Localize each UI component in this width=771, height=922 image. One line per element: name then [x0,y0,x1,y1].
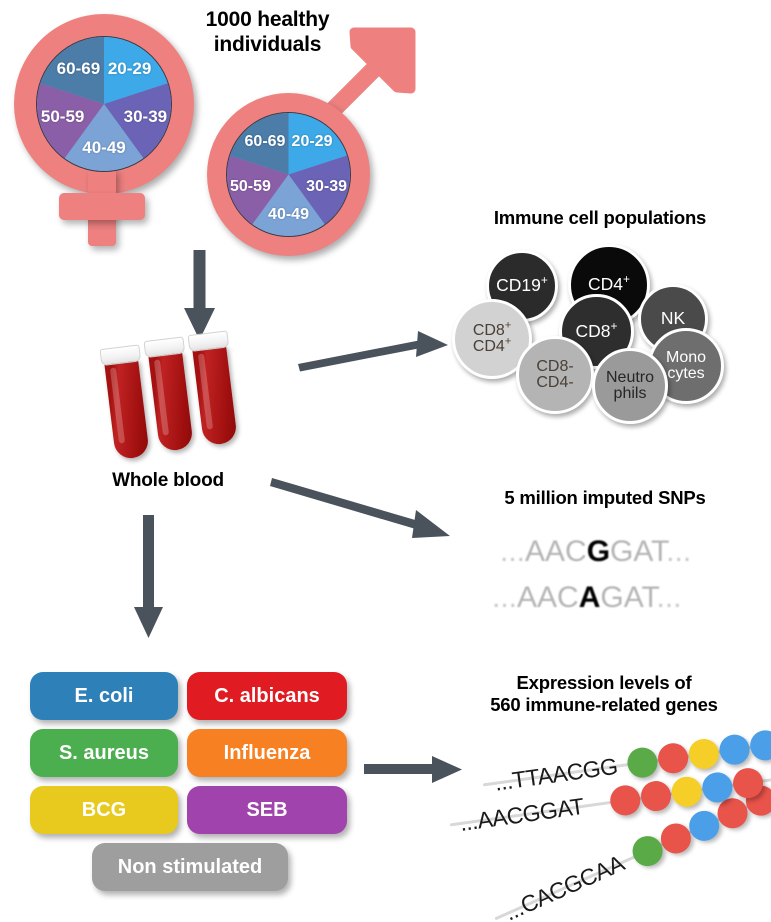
snp-base-sequence: ... [500,535,525,568]
immune-cell-label: NK [661,310,685,328]
dna-bead [656,741,690,775]
blood-tube [102,345,149,460]
immune-cell-neutrophils: Neutrophils [592,348,668,424]
snp-base-sequence: GAT [600,581,656,614]
snp-base-sequence: ... [492,581,517,614]
stimulation-influenza[interactable]: Influenza [187,729,347,777]
dna-bead [608,783,642,817]
dna-sequence-text: ...AACGGAT [458,793,585,837]
immune-cell-label: phils [606,386,654,402]
snp-base-sequence: AAC [525,535,587,568]
snp-base-sequence: GAT [610,535,666,568]
immune-cell-label: CD8+ [576,323,618,341]
immune-cell-label: CD8- [536,359,573,375]
stimulation-non-stimulated[interactable]: Non stimulated [92,843,288,891]
whole-blood-label: Whole blood [78,470,258,492]
dna-strands: ...TTAACGG...AACGGAT...CACGCAA [455,740,771,920]
pie-label-20-29: 20-29 [292,133,333,151]
pie-label-50-59: 50-59 [41,107,84,127]
immune-cell-cluster: CD19+CD4+NKCD8+CD4+CD8+MonocytesCD8-CD4-… [464,244,764,419]
pie-label-30-39: 30-39 [124,107,167,127]
snp-highlighted-base: G [587,535,610,568]
stimulation-e-coli[interactable]: E. coli [30,672,178,720]
stimulation-label: Non stimulated [118,856,262,879]
stimulation-conditions: E. coliC. albicansS. aureusInfluenzaBCGS… [30,672,350,902]
dna-sequence-text: ...CACGCAA [500,850,628,922]
arrow-stimulations-to-expression [364,752,464,788]
snp-base-sequence: ... [657,581,682,614]
blood-tube [146,337,193,452]
stimulation-label: C. albicans [214,685,320,708]
stimulation-label: BCG [82,799,126,822]
arrow-blood-to-snps [270,450,455,545]
immune-cell-label: CD4+ [588,276,630,294]
snp-sequences: ...AACGGAT......AACAGAT... [492,535,742,625]
snp-sequence-row: ...AACAGAT... [492,581,682,615]
arrow-cohort-to-blood [180,250,220,342]
immune-cell-label: CD4- [536,375,573,391]
stimulation-s-aureus[interactable]: S. aureus [30,729,178,777]
arrow-blood-to-immune [296,330,451,370]
expression-title-line2: 560 immune-related genes [445,694,763,716]
dna-bead [718,733,752,767]
whole-blood-tubes [110,330,280,460]
pie-label-50-59: 50-59 [230,178,271,196]
stimulation-label: SEB [246,799,287,822]
pie-label-60-69: 60-69 [57,59,100,79]
dna-bead [731,766,765,800]
pie-label-30-39: 30-39 [306,178,347,196]
immune-cell-cd8-cd4: CD8-CD4- [516,336,594,414]
pie-label-40-49: 40-49 [82,138,125,158]
pie-label-40-49: 40-49 [268,206,309,224]
stimulation-bcg[interactable]: BCG [30,786,178,834]
stimulation-c-albicans[interactable]: C. albicans [187,672,347,720]
expression-section-title: Expression levels of 560 immune-related … [445,672,763,716]
dna-bead [639,779,673,813]
immune-cell-label: CD19+ [496,277,548,295]
arrow-blood-to-stimulations [130,515,170,640]
immune-cell-label: CD4+ [473,339,511,355]
expression-title-line1: Expression levels of [445,672,763,694]
blood-tube [190,331,237,446]
stimulation-label: Influenza [224,742,311,765]
immune-cell-label: Neutro [606,370,654,386]
stimulation-label: S. aureus [59,742,149,765]
immune-cell-label: Mono [666,350,706,366]
immune-section-title: Immune cell populations [440,207,760,229]
pie-label-60-69: 60-69 [245,133,286,151]
snp-base-sequence: AAC [517,581,579,614]
dna-bead [625,746,659,780]
snps-section-title: 5 million imputed SNPs [450,487,760,509]
dna-bead [687,737,721,771]
dna-bead [748,728,771,762]
immune-cell-label: cytes [666,366,706,382]
dna-bead [700,770,734,804]
study-design-diagram: 1000 healthy individuals 20-2930-3940-49… [0,0,771,922]
snp-sequence-row: ...AACGGAT... [500,535,691,569]
stimulation-seb[interactable]: SEB [187,786,347,834]
pie-label-20-29: 20-29 [108,59,151,79]
stimulation-label: E. coli [75,685,134,708]
dna-bead [670,775,704,809]
snp-highlighted-base: A [579,581,601,614]
snp-base-sequence: ... [666,535,691,568]
female-symbol-cross-horizontal [59,193,145,220]
